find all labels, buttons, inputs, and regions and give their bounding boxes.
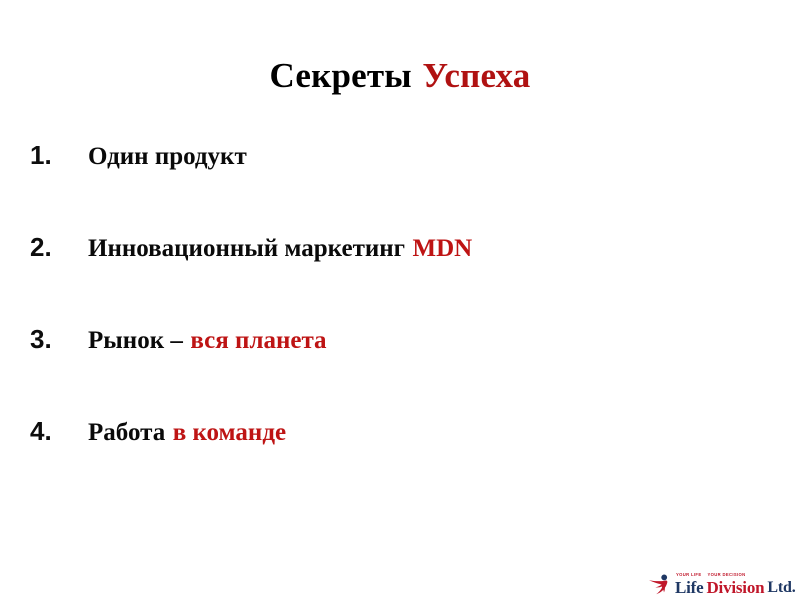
list-item-text: Рынок –вся планета bbox=[88, 326, 327, 356]
logo-division-text: Division bbox=[706, 578, 764, 597]
list-item-segment: Рынок – bbox=[88, 327, 183, 354]
list-item: 3. Рынок –вся планета bbox=[30, 324, 770, 416]
slide-canvas: СекретыУспеха 1. Один продукт 2. Инновац… bbox=[0, 0, 800, 600]
company-logo: YOUR LIFELife YOUR DECISIONDivision Ltd. bbox=[648, 566, 796, 596]
list-item-segment-accent: вся планета bbox=[190, 327, 326, 354]
numbered-list: 1. Один продукт 2. Инновационный маркети… bbox=[30, 140, 770, 448]
list-item: 4. Работав команде bbox=[30, 416, 770, 448]
list-item-segment-accent: в команде bbox=[173, 419, 286, 446]
list-item-number: 3. bbox=[30, 324, 88, 354]
list-item-number: 2. bbox=[30, 232, 88, 262]
list-item-text: Один продукт bbox=[88, 142, 247, 172]
logo-life-text: Life bbox=[675, 578, 703, 597]
logo-word-division: YOUR DECISIONDivision bbox=[706, 579, 764, 596]
logo-word-ltd: Ltd. bbox=[767, 579, 795, 596]
logo-word-life: YOUR LIFELife bbox=[675, 579, 703, 596]
list-item-segment-accent: MDN bbox=[413, 235, 473, 262]
logo-superscript-your-decision: YOUR DECISION bbox=[707, 572, 745, 577]
running-person-icon bbox=[648, 574, 674, 596]
logo-superscript-your-life: YOUR LIFE bbox=[676, 572, 701, 577]
list-item: 1. Один продукт bbox=[30, 140, 770, 232]
list-item-segment: Инновационный маркетинг bbox=[88, 235, 405, 262]
title-part-black: Секреты bbox=[269, 56, 411, 95]
list-item-number: 4. bbox=[30, 416, 88, 446]
list-item-text: Инновационный маркетингMDN bbox=[88, 234, 472, 264]
list-item-number: 1. bbox=[30, 140, 88, 170]
list-item: 2. Инновационный маркетингMDN bbox=[30, 232, 770, 324]
slide-title: СекретыУспеха bbox=[0, 55, 800, 97]
logo-wordmark: YOUR LIFELife YOUR DECISIONDivision Ltd. bbox=[675, 574, 796, 596]
list-item-segment: Один продукт bbox=[88, 143, 247, 170]
title-part-red: Успеха bbox=[422, 56, 530, 95]
list-item-segment: Работа bbox=[88, 419, 165, 446]
list-item-text: Работав команде bbox=[88, 418, 286, 448]
